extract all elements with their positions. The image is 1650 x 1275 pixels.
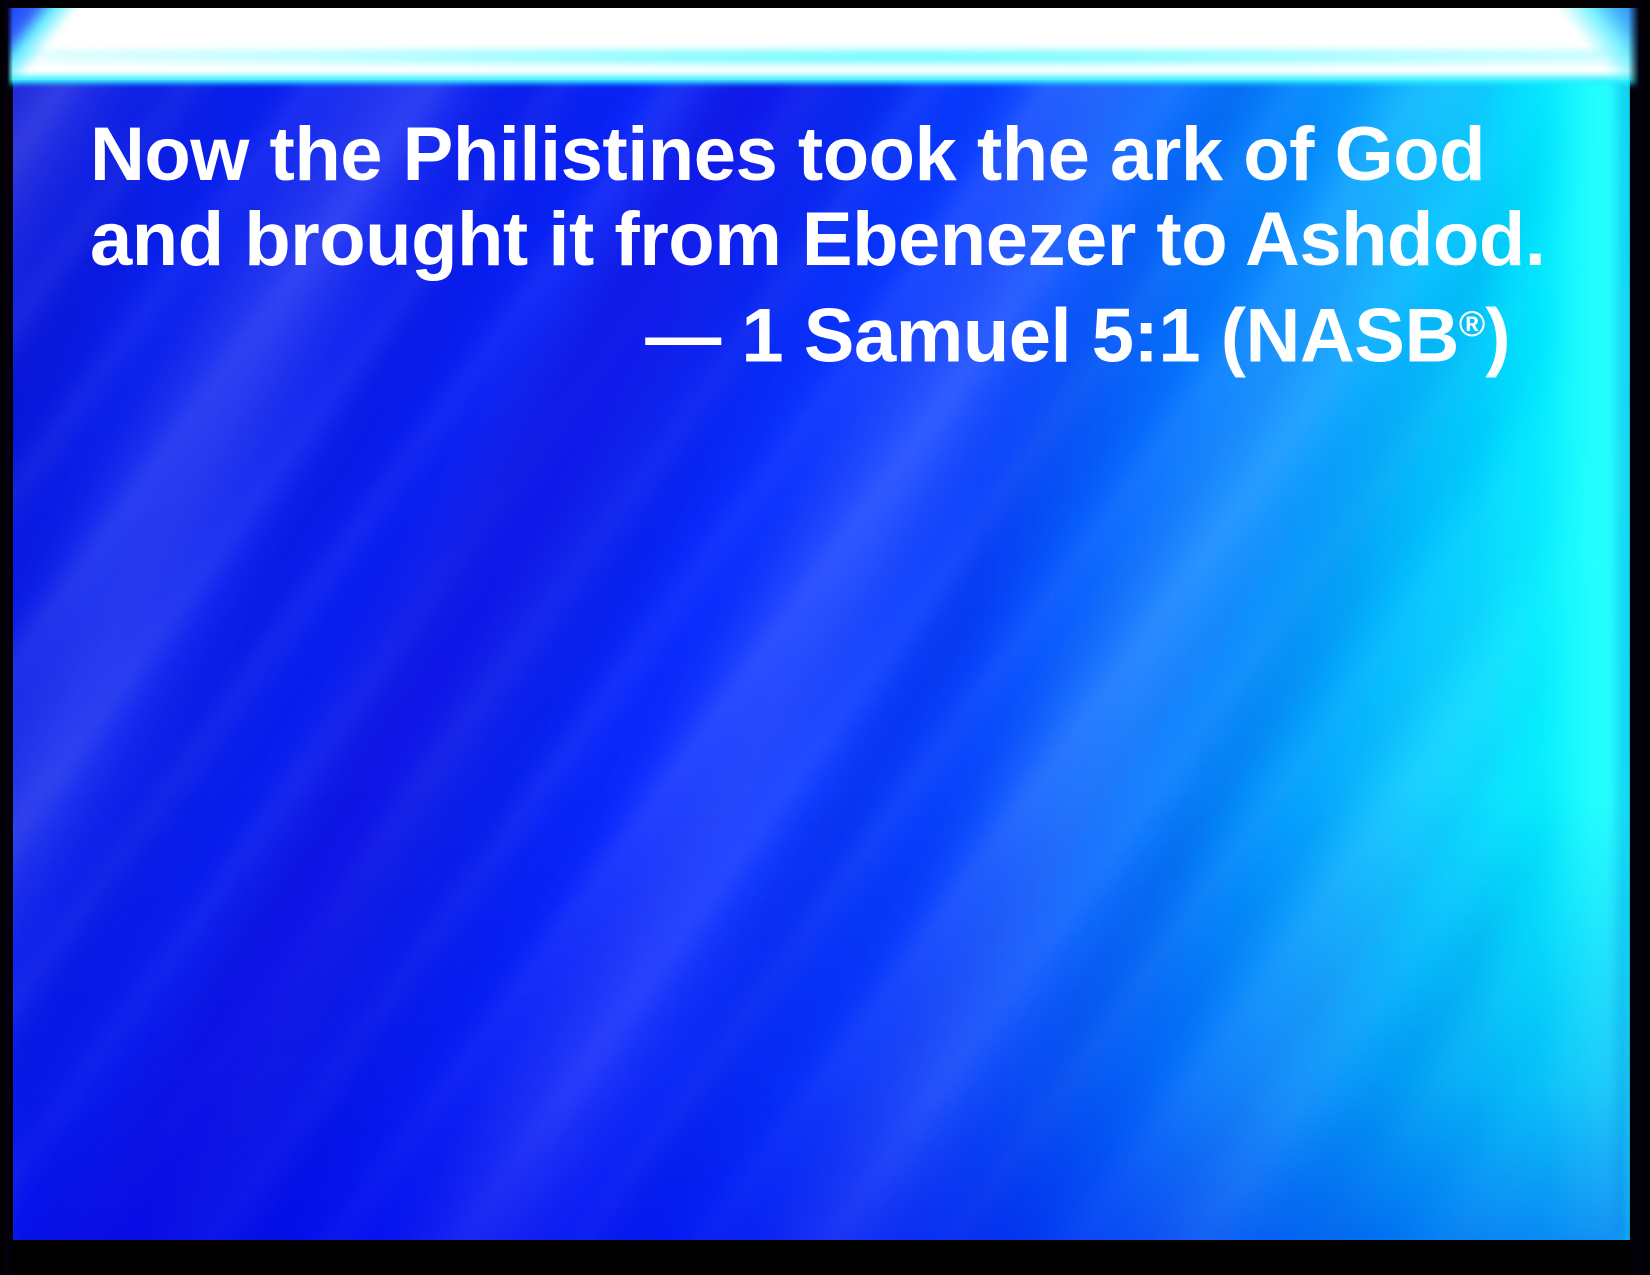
background-bottom-shade — [13, 796, 1630, 1240]
verse-line-1: Now the Philistines took the ark of God — [90, 112, 1510, 197]
glow-bar-bottom-edge — [0, 74, 1650, 86]
frame-left-border — [0, 0, 13, 1275]
verse-text-block: Now the Philistines took the ark of God … — [90, 112, 1510, 379]
attribution-reference: — 1 Samuel 5:1 (NASB — [645, 294, 1459, 379]
frame-top-border — [0, 0, 1650, 8]
top-glow-bar — [0, 0, 1650, 86]
frame-bottom-border — [0, 1240, 1650, 1275]
frame-right-border — [1628, 0, 1650, 1275]
registered-trademark-icon: ® — [1459, 304, 1485, 344]
verse-attribution: — 1 Samuel 5:1 (NASB®) — [90, 282, 1510, 379]
attribution-close-paren: ) — [1485, 294, 1510, 379]
verse-slide: Now the Philistines took the ark of God … — [0, 0, 1650, 1275]
glow-bar-fill — [0, 8, 1650, 80]
glow-bar-left-bevel — [0, 0, 90, 86]
verse-line-2: and brought it from Ebenezer to Ashdod. — [90, 197, 1510, 282]
glow-bar-lens-flare — [50, 48, 1601, 66]
